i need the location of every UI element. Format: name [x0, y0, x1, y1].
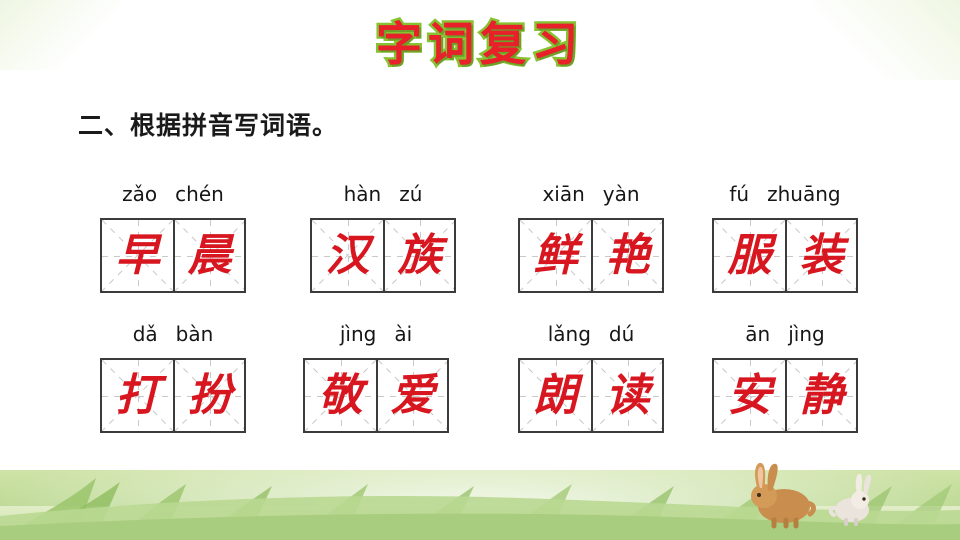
character-cell[interactable]: 安: [714, 360, 785, 431]
pinyin-syllable: dǎ: [124, 322, 167, 346]
answer-character: 爱: [378, 360, 447, 431]
character-cell[interactable]: 装: [785, 220, 856, 291]
character-grid-2-2: 敬 爱: [303, 358, 449, 433]
pinyin-syllable: bàn: [167, 322, 223, 346]
pinyin-label-2-4: ān jìng: [712, 318, 858, 350]
word-group-2-2: jìng ài 敬 爱: [303, 318, 449, 433]
character-cell[interactable]: 扮: [173, 360, 244, 431]
rabbit-icon: [740, 450, 890, 530]
character-cell[interactable]: 艳: [591, 220, 662, 291]
pinyin-syllable: jìng: [331, 322, 385, 346]
character-grid-1-1: 早 晨: [100, 218, 246, 293]
character-cell[interactable]: 族: [383, 220, 454, 291]
pinyin-label-2-3: lǎng dú: [518, 318, 664, 350]
instruction-text: 二、根据拼音写词语。: [78, 106, 338, 142]
pinyin-label-2-1: dǎ bàn: [100, 318, 246, 350]
character-cell[interactable]: 服: [714, 220, 785, 291]
word-group-1-3: xiān yàn 鲜 艳: [518, 178, 664, 293]
pinyin-syllable: fú: [720, 182, 758, 206]
word-group-2-3: lǎng dú 朗 读: [518, 318, 664, 433]
word-group-2-1: dǎ bàn 打 扮: [100, 318, 246, 433]
pinyin-syllable: zhuāng: [758, 182, 849, 206]
answer-character: 晨: [175, 220, 244, 291]
answer-character: 早: [102, 220, 173, 291]
word-group-1-2: hàn zú 汉 族: [310, 178, 456, 293]
pinyin-label-1-1: zǎo chén: [100, 178, 246, 210]
pinyin-syllable: xiān: [533, 182, 593, 206]
slide-canvas: 字词复习 字词复习 二、根据拼音写词语。 zǎo chén 早 晨: [0, 0, 960, 540]
word-group-2-4: ān jìng 安 静: [712, 318, 858, 433]
answer-character: 读: [593, 360, 662, 431]
character-grid-1-4: 服 装: [712, 218, 858, 293]
character-cell[interactable]: 晨: [173, 220, 244, 291]
character-grid-2-1: 打 扮: [100, 358, 246, 433]
pinyin-syllable: ān: [736, 322, 779, 346]
slide-title-text: 字词复习: [376, 8, 584, 74]
character-cell[interactable]: 读: [591, 360, 662, 431]
character-cell[interactable]: 打: [102, 360, 173, 431]
pinyin-label-1-2: hàn zú: [310, 178, 456, 210]
character-cell[interactable]: 静: [785, 360, 856, 431]
pinyin-syllable: jìng: [779, 322, 833, 346]
rabbit-decoration: [740, 450, 890, 530]
answer-character: 服: [714, 220, 785, 291]
pinyin-label-1-3: xiān yàn: [518, 178, 664, 210]
character-cell[interactable]: 鲜: [520, 220, 591, 291]
character-grid-2-4: 安 静: [712, 358, 858, 433]
pinyin-syllable: lǎng: [539, 322, 600, 346]
answer-character: 鲜: [520, 220, 591, 291]
slide-title: 字词复习: [0, 8, 960, 74]
pinyin-syllable: zǎo: [113, 182, 166, 206]
character-grid-2-3: 朗 读: [518, 358, 664, 433]
pinyin-syllable: ài: [385, 322, 421, 346]
character-cell[interactable]: 朗: [520, 360, 591, 431]
character-cell[interactable]: 爱: [376, 360, 447, 431]
answer-character: 汉: [312, 220, 383, 291]
character-cell[interactable]: 汉: [312, 220, 383, 291]
answer-character: 扮: [175, 360, 244, 431]
pinyin-syllable: yàn: [594, 182, 649, 206]
character-cell[interactable]: 敬: [305, 360, 376, 431]
character-grid-1-2: 汉 族: [310, 218, 456, 293]
exercise-row-2: dǎ bàn 打 扮 jìng ài: [0, 318, 960, 448]
answer-character: 族: [385, 220, 454, 291]
answer-character: 装: [787, 220, 856, 291]
pinyin-label-2-2: jìng ài: [303, 318, 449, 350]
answer-character: 静: [787, 360, 856, 431]
answer-character: 朗: [520, 360, 591, 431]
answer-character: 艳: [593, 220, 662, 291]
answer-character: 敬: [305, 360, 376, 431]
pinyin-syllable: chén: [166, 182, 233, 206]
answer-character: 打: [102, 360, 173, 431]
pinyin-syllable: dú: [600, 322, 643, 346]
character-grid-1-3: 鲜 艳: [518, 218, 664, 293]
character-cell[interactable]: 早: [102, 220, 173, 291]
pinyin-syllable: hàn: [335, 182, 391, 206]
word-group-1-4: fú zhuāng 服 装: [712, 178, 858, 293]
exercise-row-1: zǎo chén 早 晨 hàn zú: [0, 178, 960, 308]
word-group-1-1: zǎo chén 早 晨: [100, 178, 246, 293]
answer-character: 安: [714, 360, 785, 431]
pinyin-label-1-4: fú zhuāng: [712, 178, 858, 210]
pinyin-syllable: zú: [390, 182, 431, 206]
